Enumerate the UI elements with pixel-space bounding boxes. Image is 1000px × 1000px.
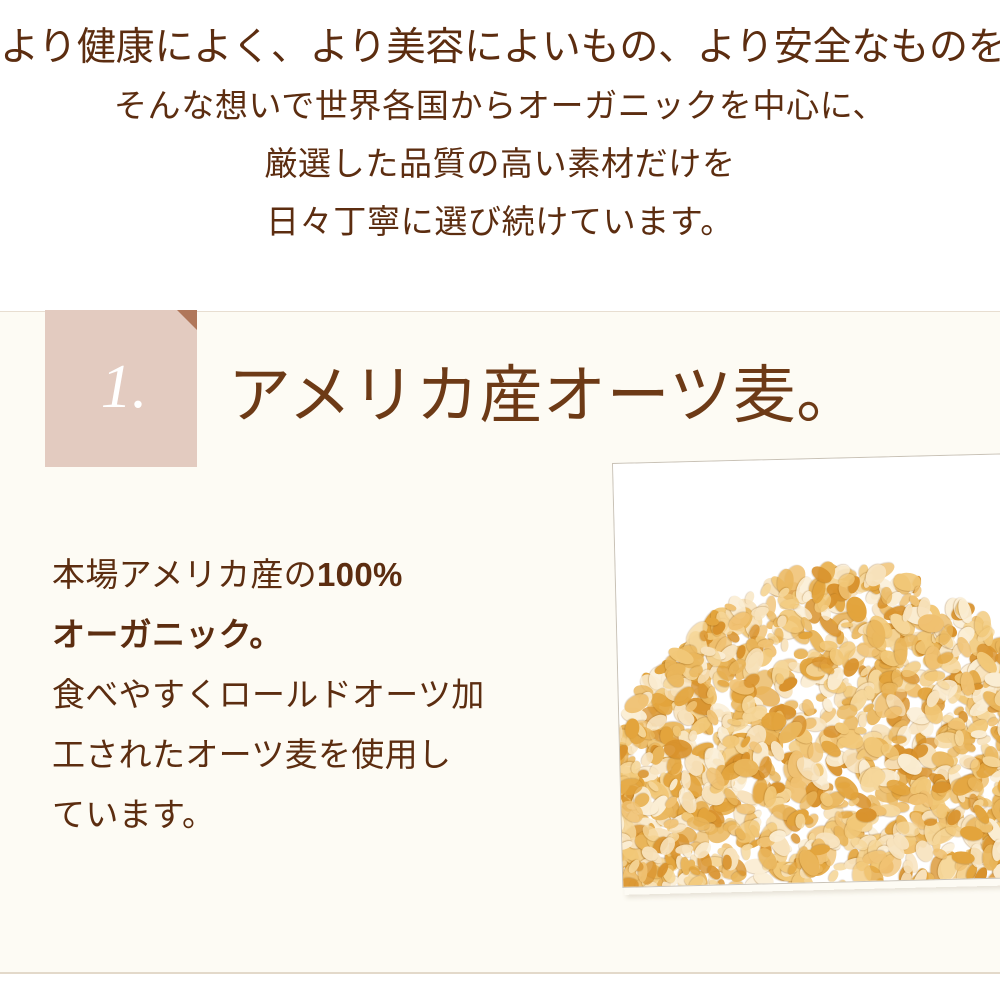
body-line-4: 工されたオーツ麦を使用し <box>52 725 572 785</box>
rolled-oats-photo <box>612 452 1000 887</box>
feature-number-label: 1. <box>45 310 197 467</box>
page-footer-space <box>0 974 1000 1000</box>
intro-line-1: より健康によく、より美容によいもの、より安全なものを。 <box>0 18 1000 78</box>
oat-flake-layer <box>613 521 1000 887</box>
feature-heading: アメリカ産オーツ麦。 <box>228 360 860 432</box>
product-feature-page: より健康によく、より美容によいもの、より安全なものを。 そんな想いで世界各国から… <box>0 0 1000 1000</box>
intro-line-2: そんな想いで世界各国からオーガニックを中心に、 <box>0 78 1000 136</box>
body-line-2: オーガニック。 <box>52 605 572 665</box>
feature-number-badge: 1. <box>45 310 197 467</box>
intro-line-4: 日々丁寧に選び続けています。 <box>0 194 1000 252</box>
feature-body-copy: 本場アメリカ産の100% オーガニック。 食べやすくロールドオーツ加 工されたオ… <box>52 545 572 845</box>
body-line-1-strong: 100% <box>317 556 403 593</box>
intro-section: より健康によく、より美容によいもの、より安全なものを。 そんな想いで世界各国から… <box>0 0 1000 311</box>
corner-fold-icon <box>177 310 197 330</box>
oat-pile <box>613 521 1000 887</box>
body-line-5: ています。 <box>52 785 572 845</box>
body-line-1: 本場アメリカ産の100% <box>52 545 572 605</box>
photo-image-area <box>613 454 1000 887</box>
intro-line-3: 厳選した品質の高い素材だけを <box>0 136 1000 194</box>
body-line-3: 食べやすくロールドオーツ加 <box>52 665 572 725</box>
body-line-1-plain: 本場アメリカ産の <box>52 556 317 593</box>
